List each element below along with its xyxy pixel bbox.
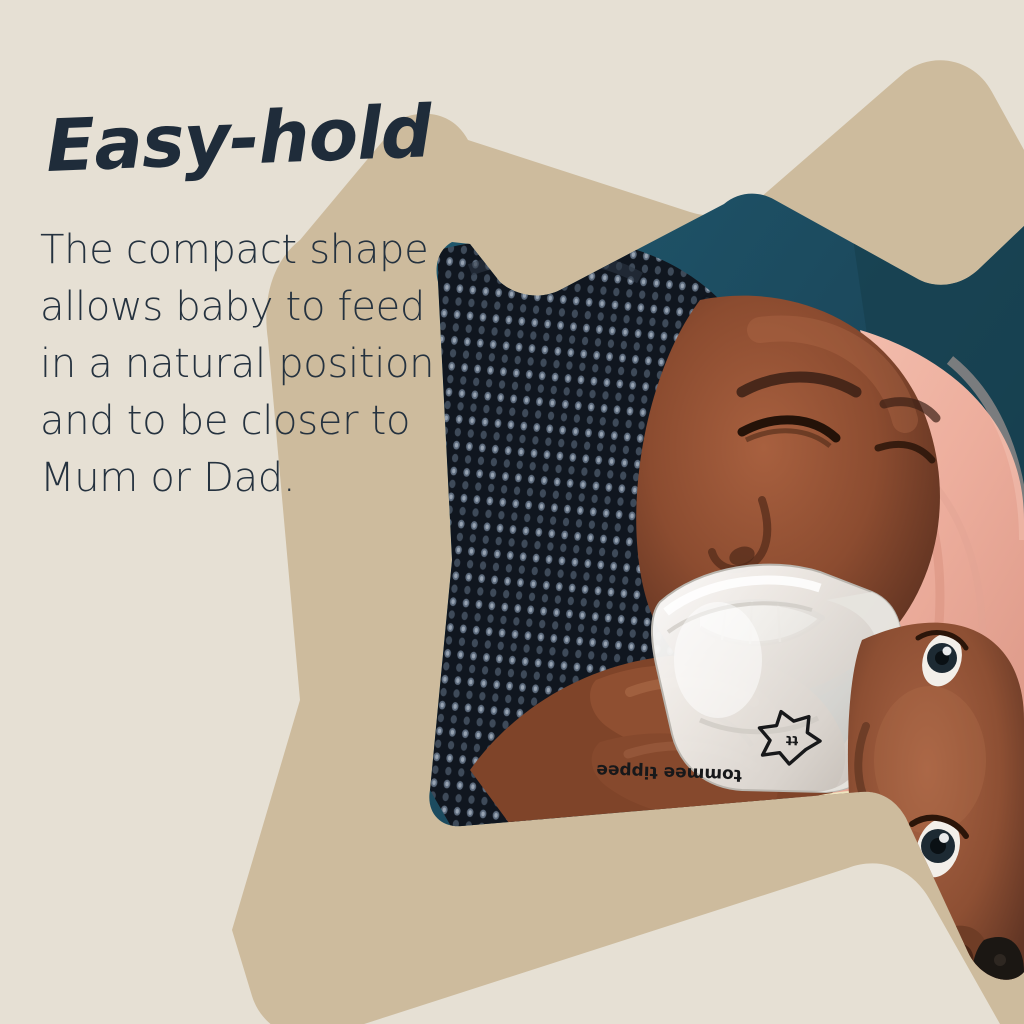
body-copy: The compact shape allows baby to feed in… xyxy=(40,222,460,506)
text-column: Easy-hold The compact shape allows baby … xyxy=(40,112,470,506)
promo-card: tt tommee tippee xyxy=(0,0,1024,1024)
svg-text:tt: tt xyxy=(786,732,799,747)
page-title: Easy-hold xyxy=(45,96,471,181)
